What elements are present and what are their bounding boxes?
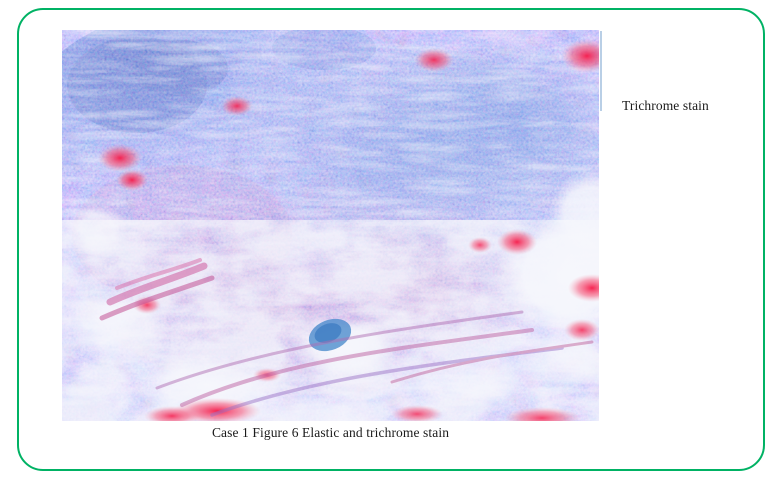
stain-label: Trichrome stain <box>622 98 709 114</box>
slide-canvas: Trichrome stain Case 1 Figure 6 Elastic … <box>0 0 782 484</box>
pointer-rule-icon <box>600 31 602 111</box>
figure-caption: Case 1 Figure 6 Elastic and trichrome st… <box>62 425 599 441</box>
micrograph-svg <box>62 30 599 421</box>
histology-micrograph <box>62 30 599 421</box>
